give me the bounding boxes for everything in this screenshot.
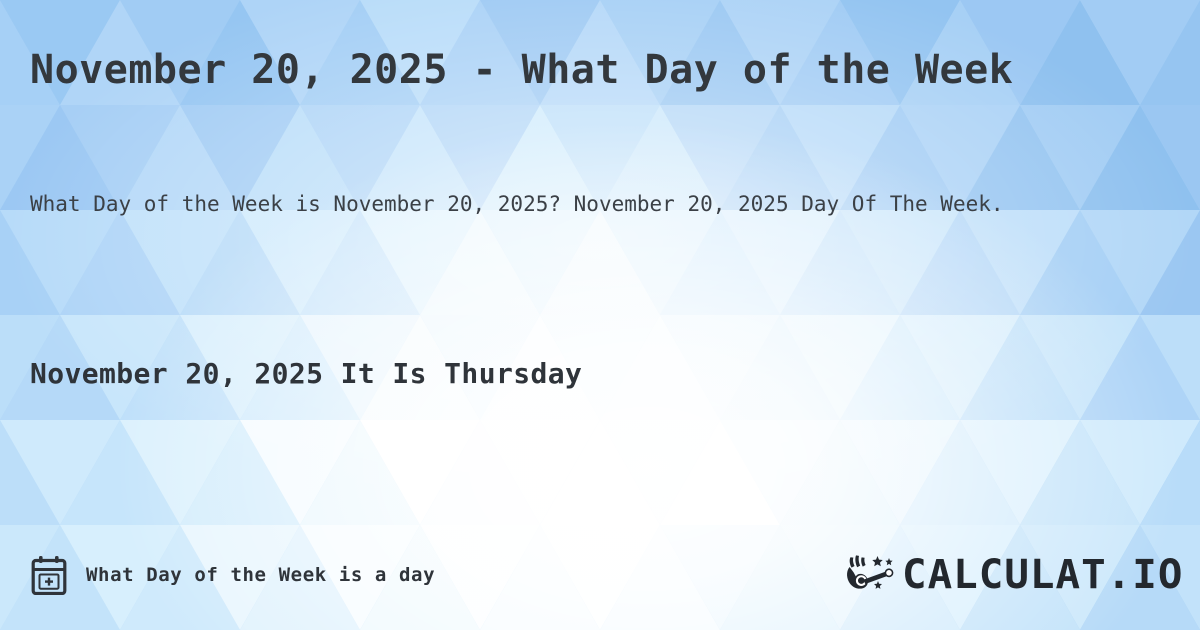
brand-name: CALCULAT.IO — [902, 555, 1183, 595]
page-subtitle: What Day of the Week is November 20, 202… — [30, 186, 1085, 222]
page-title: November 20, 2025 - What Day of the Week — [30, 44, 1170, 96]
share-card: November 20, 2025 - What Day of the Week… — [0, 0, 1200, 630]
card-content: November 20, 2025 - What Day of the Week… — [0, 0, 1200, 630]
magic-wand-hand-icon — [844, 553, 898, 597]
brand-logo[interactable]: CALCULAT.IO — [844, 553, 1178, 597]
footer-tagline: What Day of the Week is a day — [86, 564, 435, 586]
footer-left-group: What Day of the Week is a day — [30, 555, 435, 595]
day-of-week-result: November 20, 2025 It Is Thursday — [30, 354, 582, 394]
footer: What Day of the Week is a day — [30, 548, 1178, 602]
calendar-plus-icon — [30, 555, 68, 595]
